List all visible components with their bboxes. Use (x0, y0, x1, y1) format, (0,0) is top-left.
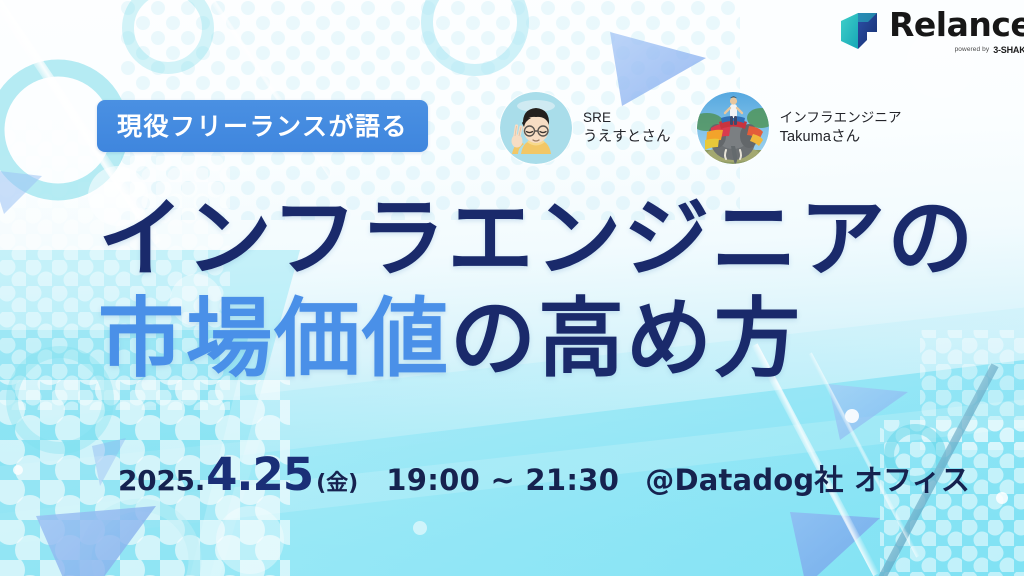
event-time: 19:00 ~ 21:30 (386, 463, 619, 497)
relance-logo-mark-icon (838, 10, 880, 52)
avatar-illustration-person-glasses-icon (500, 92, 572, 164)
speakers-list: SRE うえすとさん (500, 92, 902, 164)
tagline-prefix: powered by (955, 47, 990, 54)
speaker-role: インフラエンジニア (780, 109, 902, 128)
event-month-day: 4.25 (206, 448, 313, 501)
catchphrase-badge: 現役フリーランスが語る (97, 100, 428, 152)
title-line-2: 市場価値の高め方 (98, 296, 975, 382)
speaker-item: SRE うえすとさん (500, 92, 671, 164)
event-banner: Relance powered by 3-SHAKE 現役フリーランスが語る (0, 0, 1024, 576)
brand-tagline: powered by 3-SHAKE (955, 46, 1024, 55)
speaker-name: Takumaさん (780, 127, 902, 147)
event-title: インフラエンジニアの 市場価値の高め方 (98, 196, 975, 382)
tagline-brand: 3-SHAKE (993, 46, 1024, 55)
title-rest: の高め方 (450, 289, 802, 389)
title-line-1: インフラエンジニアの (98, 196, 975, 282)
title-highlight: 市場価値 (98, 289, 450, 389)
event-year: 2025. (118, 464, 205, 497)
brand-name: Relance (889, 8, 1024, 41)
speaker-name: うえすとさん (583, 127, 671, 147)
speaker-role: SRE (583, 109, 671, 128)
event-day-of-week: (金) (316, 465, 358, 497)
brand-logo: Relance powered by 3-SHAKE (838, 8, 1024, 55)
event-info: 2025. 4.25 (金) 19:00 ~ 21:30 @Datadog社 オ… (118, 448, 970, 501)
avatar-photo-person-on-elephant-icon (697, 92, 769, 164)
event-venue: @Datadog社 オフィス (645, 457, 970, 499)
speaker-item: インフラエンジニア Takumaさん (697, 92, 902, 164)
